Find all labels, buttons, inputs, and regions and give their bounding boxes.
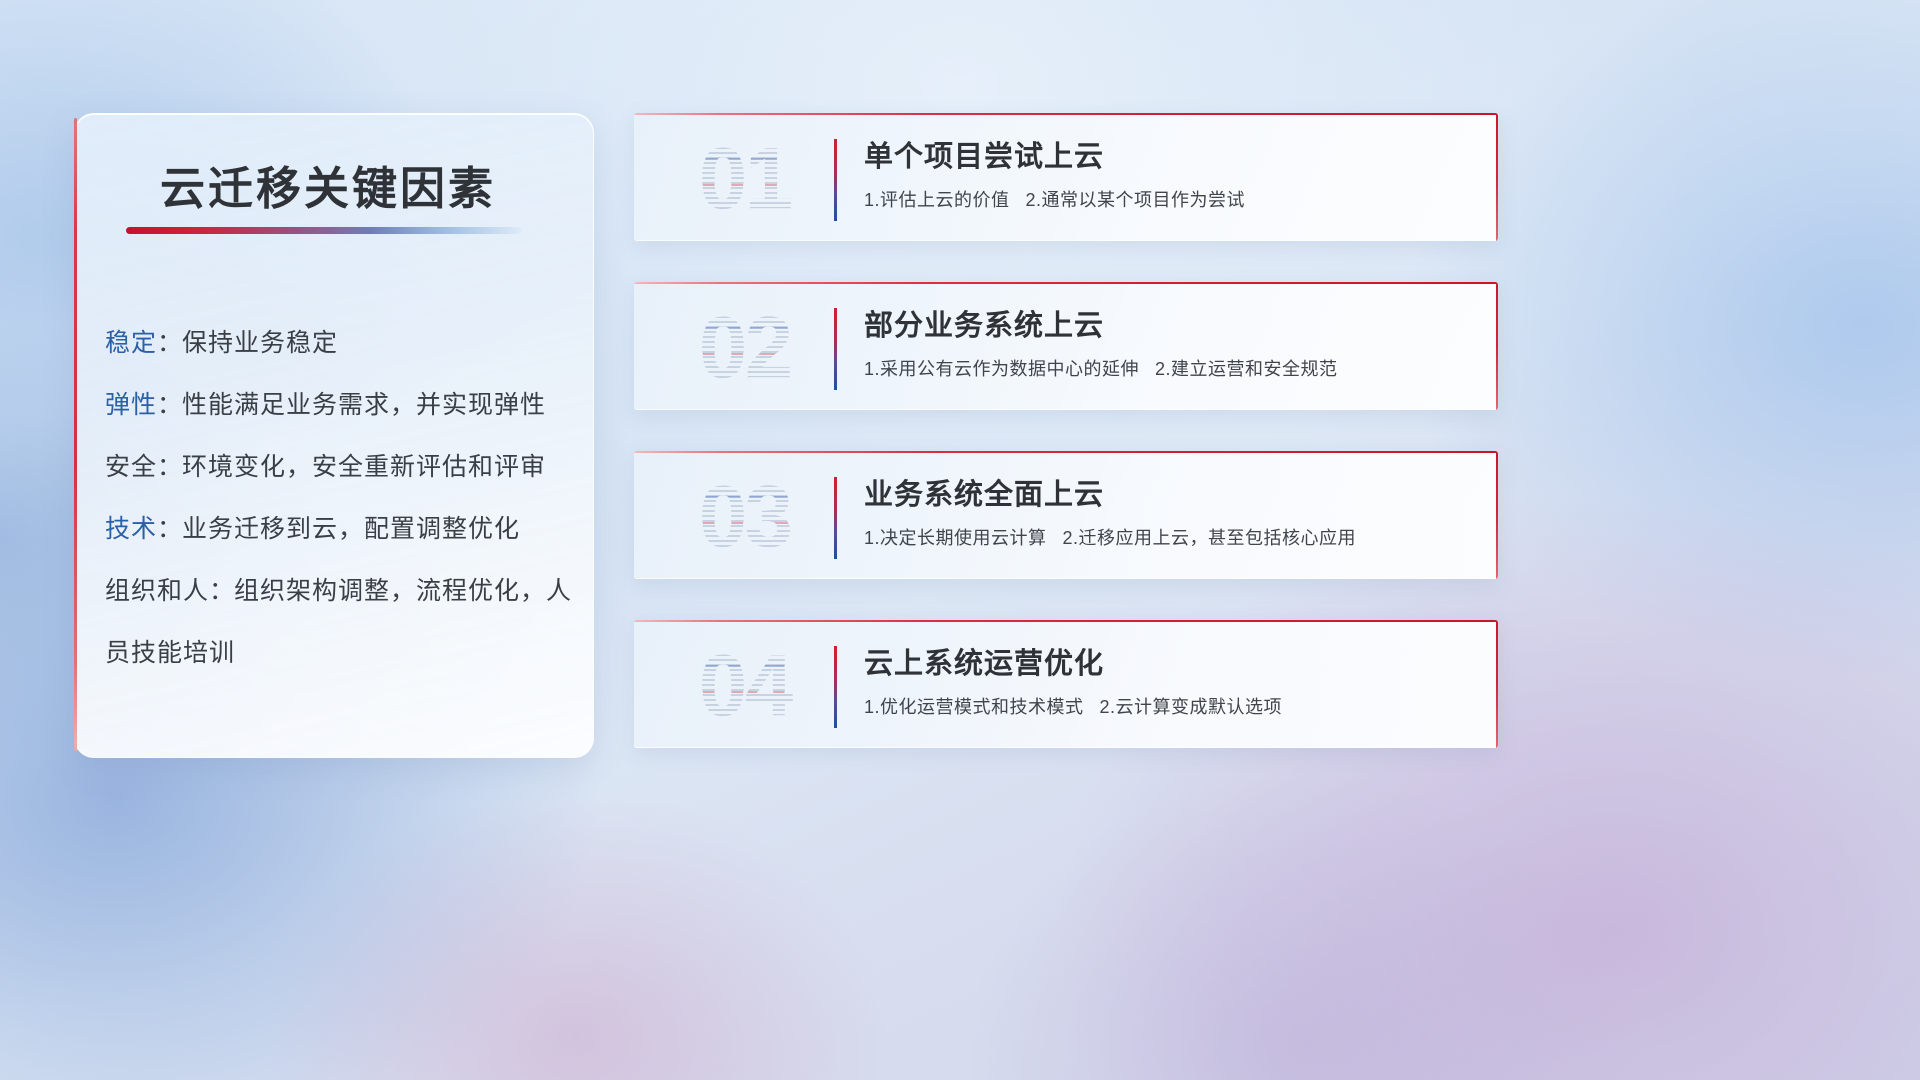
- step-number-ghost-blue-stripe: 03: [660, 465, 830, 569]
- slide-stage: 云迁移关键因素 稳定：保持业务稳定 弹性：性能满足业务需求，并实现弹性 安全：环…: [0, 0, 1920, 1080]
- stage-card-01[interactable]: 01 01 01 单个项目尝试上云 1.评估上云的价值2.通常以某个项目作为尝试: [634, 113, 1498, 241]
- card-description-part-2: 2.建立运营和安全规范: [1155, 359, 1338, 379]
- card-top-accent-line: [634, 620, 1498, 622]
- stage-cards-list: 01 01 01 单个项目尝试上云 1.评估上云的价值2.通常以某个项目作为尝试…: [634, 113, 1498, 789]
- panel-left-accent-bar: [74, 118, 77, 751]
- factor-separator: ：: [157, 329, 182, 357]
- stage-card-04[interactable]: 04 04 04 云上系统运营优化 1.优化运营模式和技术模式2.云计算变成默认…: [634, 620, 1498, 748]
- card-description-part-2: 2.云计算变成默认选项: [1100, 697, 1283, 717]
- list-item: 安全：环境变化，安全重新评估和评审: [105, 436, 575, 498]
- card-description: 1.决定长期使用云计算2.迁移应用上云，甚至包括核心应用: [864, 524, 1464, 552]
- factor-separator: ：: [157, 515, 182, 543]
- factor-label: 弹性: [105, 391, 157, 419]
- card-description: 1.采用公有云作为数据中心的延伸2.建立运营和安全规范: [864, 355, 1464, 383]
- card-right-accent-line: [1496, 451, 1498, 579]
- card-title: 业务系统全面上云: [864, 473, 1464, 517]
- title-underline-gradient: [126, 227, 522, 234]
- factor-separator: ：: [157, 391, 182, 419]
- card-title: 单个项目尝试上云: [864, 135, 1464, 179]
- card-description-part-2: 2.通常以某个项目作为尝试: [1026, 190, 1246, 210]
- list-item: 组织和人：组织架构调整，流程优化，人员技能培训: [105, 560, 575, 684]
- card-description: 1.评估上云的价值2.通常以某个项目作为尝试: [864, 186, 1464, 214]
- card-description-part-2: 2.迁移应用上云，甚至包括核心应用: [1063, 528, 1357, 548]
- page-title: 云迁移关键因素: [160, 152, 496, 217]
- card-description: 1.优化运营模式和技术模式2.云计算变成默认选项: [864, 693, 1464, 721]
- card-title: 部分业务系统上云: [864, 304, 1464, 348]
- card-top-accent-line: [634, 282, 1498, 284]
- step-number-ghost-blue-stripe: 01: [660, 127, 830, 231]
- list-item: 稳定：保持业务稳定: [105, 312, 575, 374]
- card-top-accent-line: [634, 113, 1498, 115]
- factor-text: 性能满足业务需求，并实现弹性: [182, 391, 546, 419]
- card-content: 云上系统运营优化 1.优化运营模式和技术模式2.云计算变成默认选项: [864, 642, 1464, 721]
- factor-label: 稳定: [105, 329, 157, 357]
- step-number-ghost-blue-stripe: 02: [660, 296, 830, 400]
- card-content: 业务系统全面上云 1.决定长期使用云计算2.迁移应用上云，甚至包括核心应用: [864, 473, 1464, 552]
- card-description-part-1: 1.采用公有云作为数据中心的延伸: [864, 359, 1139, 379]
- factor-separator: ：: [157, 453, 182, 481]
- factor-text: 环境变化，安全重新评估和评审: [182, 453, 546, 481]
- card-description-part-1: 1.优化运营模式和技术模式: [864, 697, 1084, 717]
- card-content: 部分业务系统上云 1.采用公有云作为数据中心的延伸2.建立运营和安全规范: [864, 304, 1464, 383]
- key-factors-list: 稳定：保持业务稳定 弹性：性能满足业务需求，并实现弹性 安全：环境变化，安全重新…: [105, 312, 575, 684]
- factor-text: 保持业务稳定: [182, 329, 338, 357]
- factor-separator: ：: [209, 577, 234, 605]
- stage-card-03[interactable]: 03 03 03 业务系统全面上云 1.决定长期使用云计算2.迁移应用上云，甚至…: [634, 451, 1498, 579]
- list-item: 弹性：性能满足业务需求，并实现弹性: [105, 374, 575, 436]
- card-accent-bar: [834, 477, 837, 559]
- card-title: 云上系统运营优化: [864, 642, 1464, 686]
- stage-card-02[interactable]: 02 02 02 部分业务系统上云 1.采用公有云作为数据中心的延伸2.建立运营…: [634, 282, 1498, 410]
- card-right-accent-line: [1496, 113, 1498, 241]
- card-accent-bar: [834, 646, 837, 728]
- card-content: 单个项目尝试上云 1.评估上云的价值2.通常以某个项目作为尝试: [864, 135, 1464, 214]
- card-description-part-1: 1.评估上云的价值: [864, 190, 1010, 210]
- step-number-ghost-blue-stripe: 04: [660, 634, 830, 738]
- list-item: 技术：业务迁移到云，配置调整优化: [105, 498, 575, 560]
- card-description-part-1: 1.决定长期使用云计算: [864, 528, 1047, 548]
- card-right-accent-line: [1496, 620, 1498, 748]
- factor-label: 安全: [105, 453, 157, 481]
- card-accent-bar: [834, 139, 837, 221]
- card-top-accent-line: [634, 451, 1498, 453]
- factor-label: 组织和人: [105, 577, 209, 605]
- card-accent-bar: [834, 308, 837, 390]
- factor-text: 业务迁移到云，配置调整优化: [182, 515, 520, 543]
- factor-label: 技术: [105, 515, 157, 543]
- card-right-accent-line: [1496, 282, 1498, 410]
